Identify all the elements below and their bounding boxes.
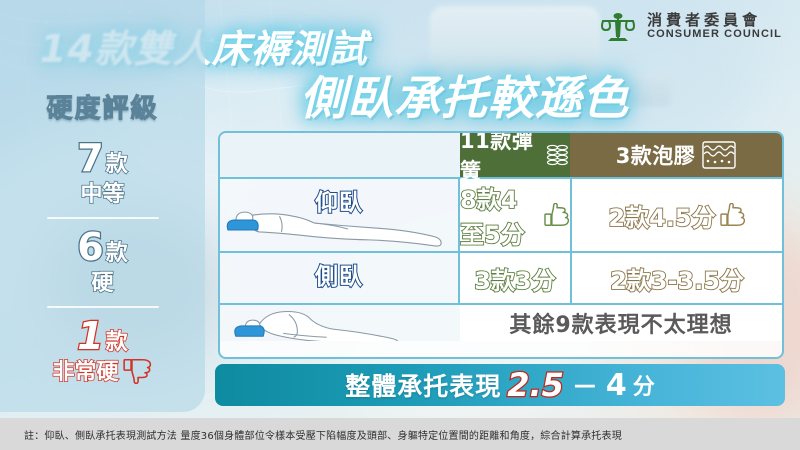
- table-row: 仰臥 8款4至5分: [220, 177, 782, 251]
- grade-unit: 款: [106, 324, 128, 356]
- divider: [47, 306, 159, 308]
- table-header-foam: 3款泡膠: [570, 133, 782, 177]
- spring-side-score: 3款3分: [474, 261, 555, 296]
- overall-unit: 分: [633, 369, 655, 401]
- pose-label: 側臥: [315, 257, 363, 291]
- grade-label: 中等: [0, 176, 205, 208]
- thumb-up-icon: [544, 203, 570, 227]
- grade-count: 1: [77, 317, 103, 355]
- pose-cell-side-art: [220, 305, 460, 341]
- table-header-foam-label: 3款泡膠: [616, 140, 696, 170]
- footnote-bar: 註：仰臥、側臥承托表現測試方法 量度36個身體部位令樣本受壓下陷幅度及頭部、身軀…: [0, 418, 800, 450]
- hardness-rating-heading: 硬度評級: [0, 88, 205, 125]
- support-performance-table: 11款彈簧 3款泡膠: [218, 131, 784, 359]
- overall-label: 整體承托表現: [345, 367, 501, 403]
- pose-label: 仰臥: [315, 183, 363, 217]
- spring-coil-icon: [545, 140, 570, 170]
- spring-supine-score: 8款4至5分: [460, 180, 540, 250]
- grade-label: 非常硬: [52, 354, 118, 386]
- pose-cell-supine: 仰臥: [220, 179, 460, 251]
- overall-support-bar: 整體承托表現 2.5 － 4 分: [215, 364, 785, 406]
- infographic-stage: 消費者委員會 CONSUMER COUNCIL 14款雙人床褥測試 側臥承托較遜…: [0, 0, 800, 450]
- value-cell-foam-supine: 2款4.5分: [570, 179, 782, 251]
- overall-score-min: 2.5: [507, 366, 564, 404]
- table-note-text: 其餘9款表現不太理想: [460, 305, 782, 341]
- value-cell-spring-side: 3款3分: [460, 253, 570, 303]
- value-cell-spring-supine: 8款4至5分: [460, 179, 570, 251]
- thumb-up-icon: [720, 203, 746, 227]
- grade-count: 6: [77, 228, 103, 266]
- pose-cell-side: 側臥: [220, 253, 460, 303]
- title-line-2: 側臥承托較遜色: [300, 62, 629, 128]
- grade-unit: 款: [106, 235, 128, 267]
- grade-count: 7: [77, 139, 103, 177]
- table-header-spring-label: 11款彈簧: [460, 131, 538, 185]
- table-note-row: 其餘9款表現不太理想: [220, 303, 782, 341]
- table-header-blank: [220, 133, 460, 177]
- foam-supine-score: 2款4.5分: [608, 198, 715, 233]
- grade-item-very-hard: 1 款 非常硬: [0, 317, 205, 386]
- overall-score-max: 4: [606, 368, 627, 403]
- foam-side-score: 2款3-3.5分: [610, 261, 744, 296]
- person-side-lying-icon: [220, 305, 460, 341]
- thumb-down-icon: [123, 358, 153, 384]
- table-header-row: 11款彈簧 3款泡膠: [220, 133, 782, 177]
- table-header-spring: 11款彈簧: [460, 133, 570, 177]
- value-cell-foam-side: 2款3-3.5分: [570, 253, 782, 303]
- hardness-rating-panel: 硬度評級 7 款 中等 6 款 硬 1 款 非常硬: [0, 0, 205, 412]
- grade-unit: 款: [106, 146, 128, 178]
- grade-item-medium: 7 款 中等: [0, 139, 205, 208]
- foam-mattress-icon: [702, 141, 736, 169]
- grade-label: 硬: [0, 265, 205, 297]
- footnote-text: 註：仰臥、側臥承托表現測試方法 量度36個身體部位令樣本受壓下陷幅度及頭部、身軀…: [0, 427, 622, 442]
- grade-item-hard: 6 款 硬: [0, 228, 205, 297]
- divider: [47, 217, 159, 219]
- table-row: 側臥 3款3分 2款3-3.5分: [220, 251, 782, 303]
- overall-dash: －: [570, 367, 600, 404]
